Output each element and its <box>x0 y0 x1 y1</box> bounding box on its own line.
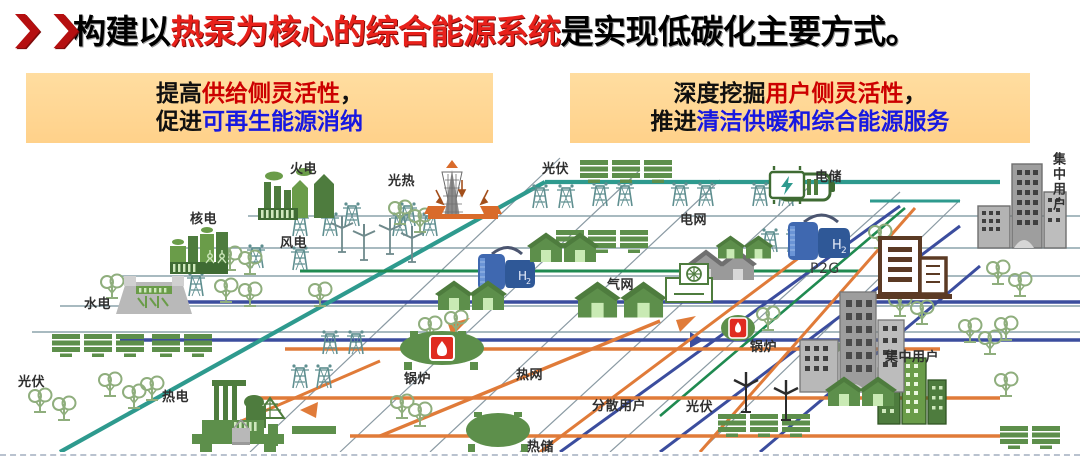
slide-title-bar: ❯❯ 构建以热泵为核心的综合能源系统是实现低碳化主要方式。 <box>0 0 1080 58</box>
electric-storage-icon <box>770 166 804 204</box>
callout-line-1: 深度挖掘用户侧灵活性， <box>674 80 927 108</box>
label-distributed-users: 分散用户 <box>592 395 646 414</box>
svg-text:2: 2 <box>526 277 531 286</box>
label-pv-left: 光伏 <box>18 371 45 390</box>
callout-line-2: 推进清洁供暖和综合能源服务 <box>651 108 950 136</box>
label-heat-storage: 热储 <box>527 436 554 455</box>
hydro-dam-icon <box>116 276 192 314</box>
commercial-building-icon <box>874 238 952 299</box>
label-wind-power: 风电 <box>280 232 307 251</box>
double-chevron-icon: ❯❯ <box>8 12 85 46</box>
solar-tower-icon <box>424 160 502 219</box>
callout-text-highlight-red: 供给侧灵活性 <box>202 81 340 107</box>
nuclear-plant-icon <box>170 227 228 274</box>
label-nuclear-power: 核电 <box>190 208 217 227</box>
label-pv-bottom: 光伏 <box>686 396 713 415</box>
callout-text-highlight-blue: 清洁供暖和综合能源服务 <box>697 109 950 135</box>
callout-text: 提高 <box>156 81 202 107</box>
diagram-canvas: H 2 H 2 <box>0 146 1080 452</box>
heat-storage-tank-icon <box>466 412 530 452</box>
label-chp: 热电 <box>162 386 189 405</box>
callout-text-highlight-blue: 可再生能源消纳 <box>202 109 363 135</box>
callout-line-1: 提高供给侧灵活性， <box>156 80 363 108</box>
label-gas-grid: 气网 <box>607 274 634 293</box>
callout-line-2: 促进可再生能源消纳 <box>156 108 363 136</box>
label-thermal-power: 火电 <box>290 158 317 177</box>
svg-text:2: 2 <box>841 246 847 256</box>
callout-text: ， <box>340 81 363 107</box>
energy-system-diagram: H 2 H 2 <box>0 146 1080 456</box>
page-title: 构建以热泵为核心的综合能源系统是实现低碳化主要方式。 <box>73 5 918 53</box>
title-segment-3: 是实现低碳化主要方式。 <box>560 12 918 51</box>
label-central-user-bottom: 集中用户 <box>885 346 939 365</box>
callout-text: 推进 <box>651 109 697 135</box>
callout-supply-side-flexibility: 提高供给侧灵活性， 促进可再生能源消纳 <box>26 73 493 143</box>
boiler-left-icon <box>400 331 484 370</box>
callout-text: 促进 <box>156 109 202 135</box>
title-segment-2: 热泵为核心的综合能源系统 <box>170 12 560 51</box>
label-pv-top: 光伏 <box>542 158 569 177</box>
label-hydro-power: 水电 <box>84 293 111 312</box>
label-boiler-left: 锅炉 <box>404 368 431 387</box>
label-p2g: P2G <box>810 261 840 277</box>
callout-text: 深度挖掘 <box>674 81 766 107</box>
callout-text-highlight-red: 用户侧灵活性 <box>766 81 904 107</box>
label-central-user-right: 集中用户 <box>1048 152 1067 212</box>
callout-text: ， <box>904 81 927 107</box>
label-heat-grid: 热网 <box>516 364 543 383</box>
label-solar-thermal: 光热 <box>388 170 415 189</box>
title-segment-1: 构建以 <box>73 12 171 51</box>
central-user-block-icon <box>800 292 904 392</box>
p2g-hydrogen-icon: H 2 <box>788 215 850 260</box>
callout-demand-side-flexibility: 深度挖掘用户侧灵活性， 推进清洁供暖和综合能源服务 <box>570 73 1030 143</box>
label-electric-storage: 电储 <box>815 166 842 185</box>
green-post-icon <box>268 424 278 446</box>
green-bar-icon <box>292 426 336 434</box>
label-power-grid: 电网 <box>680 209 707 228</box>
label-boiler-right: 锅炉 <box>750 336 777 355</box>
